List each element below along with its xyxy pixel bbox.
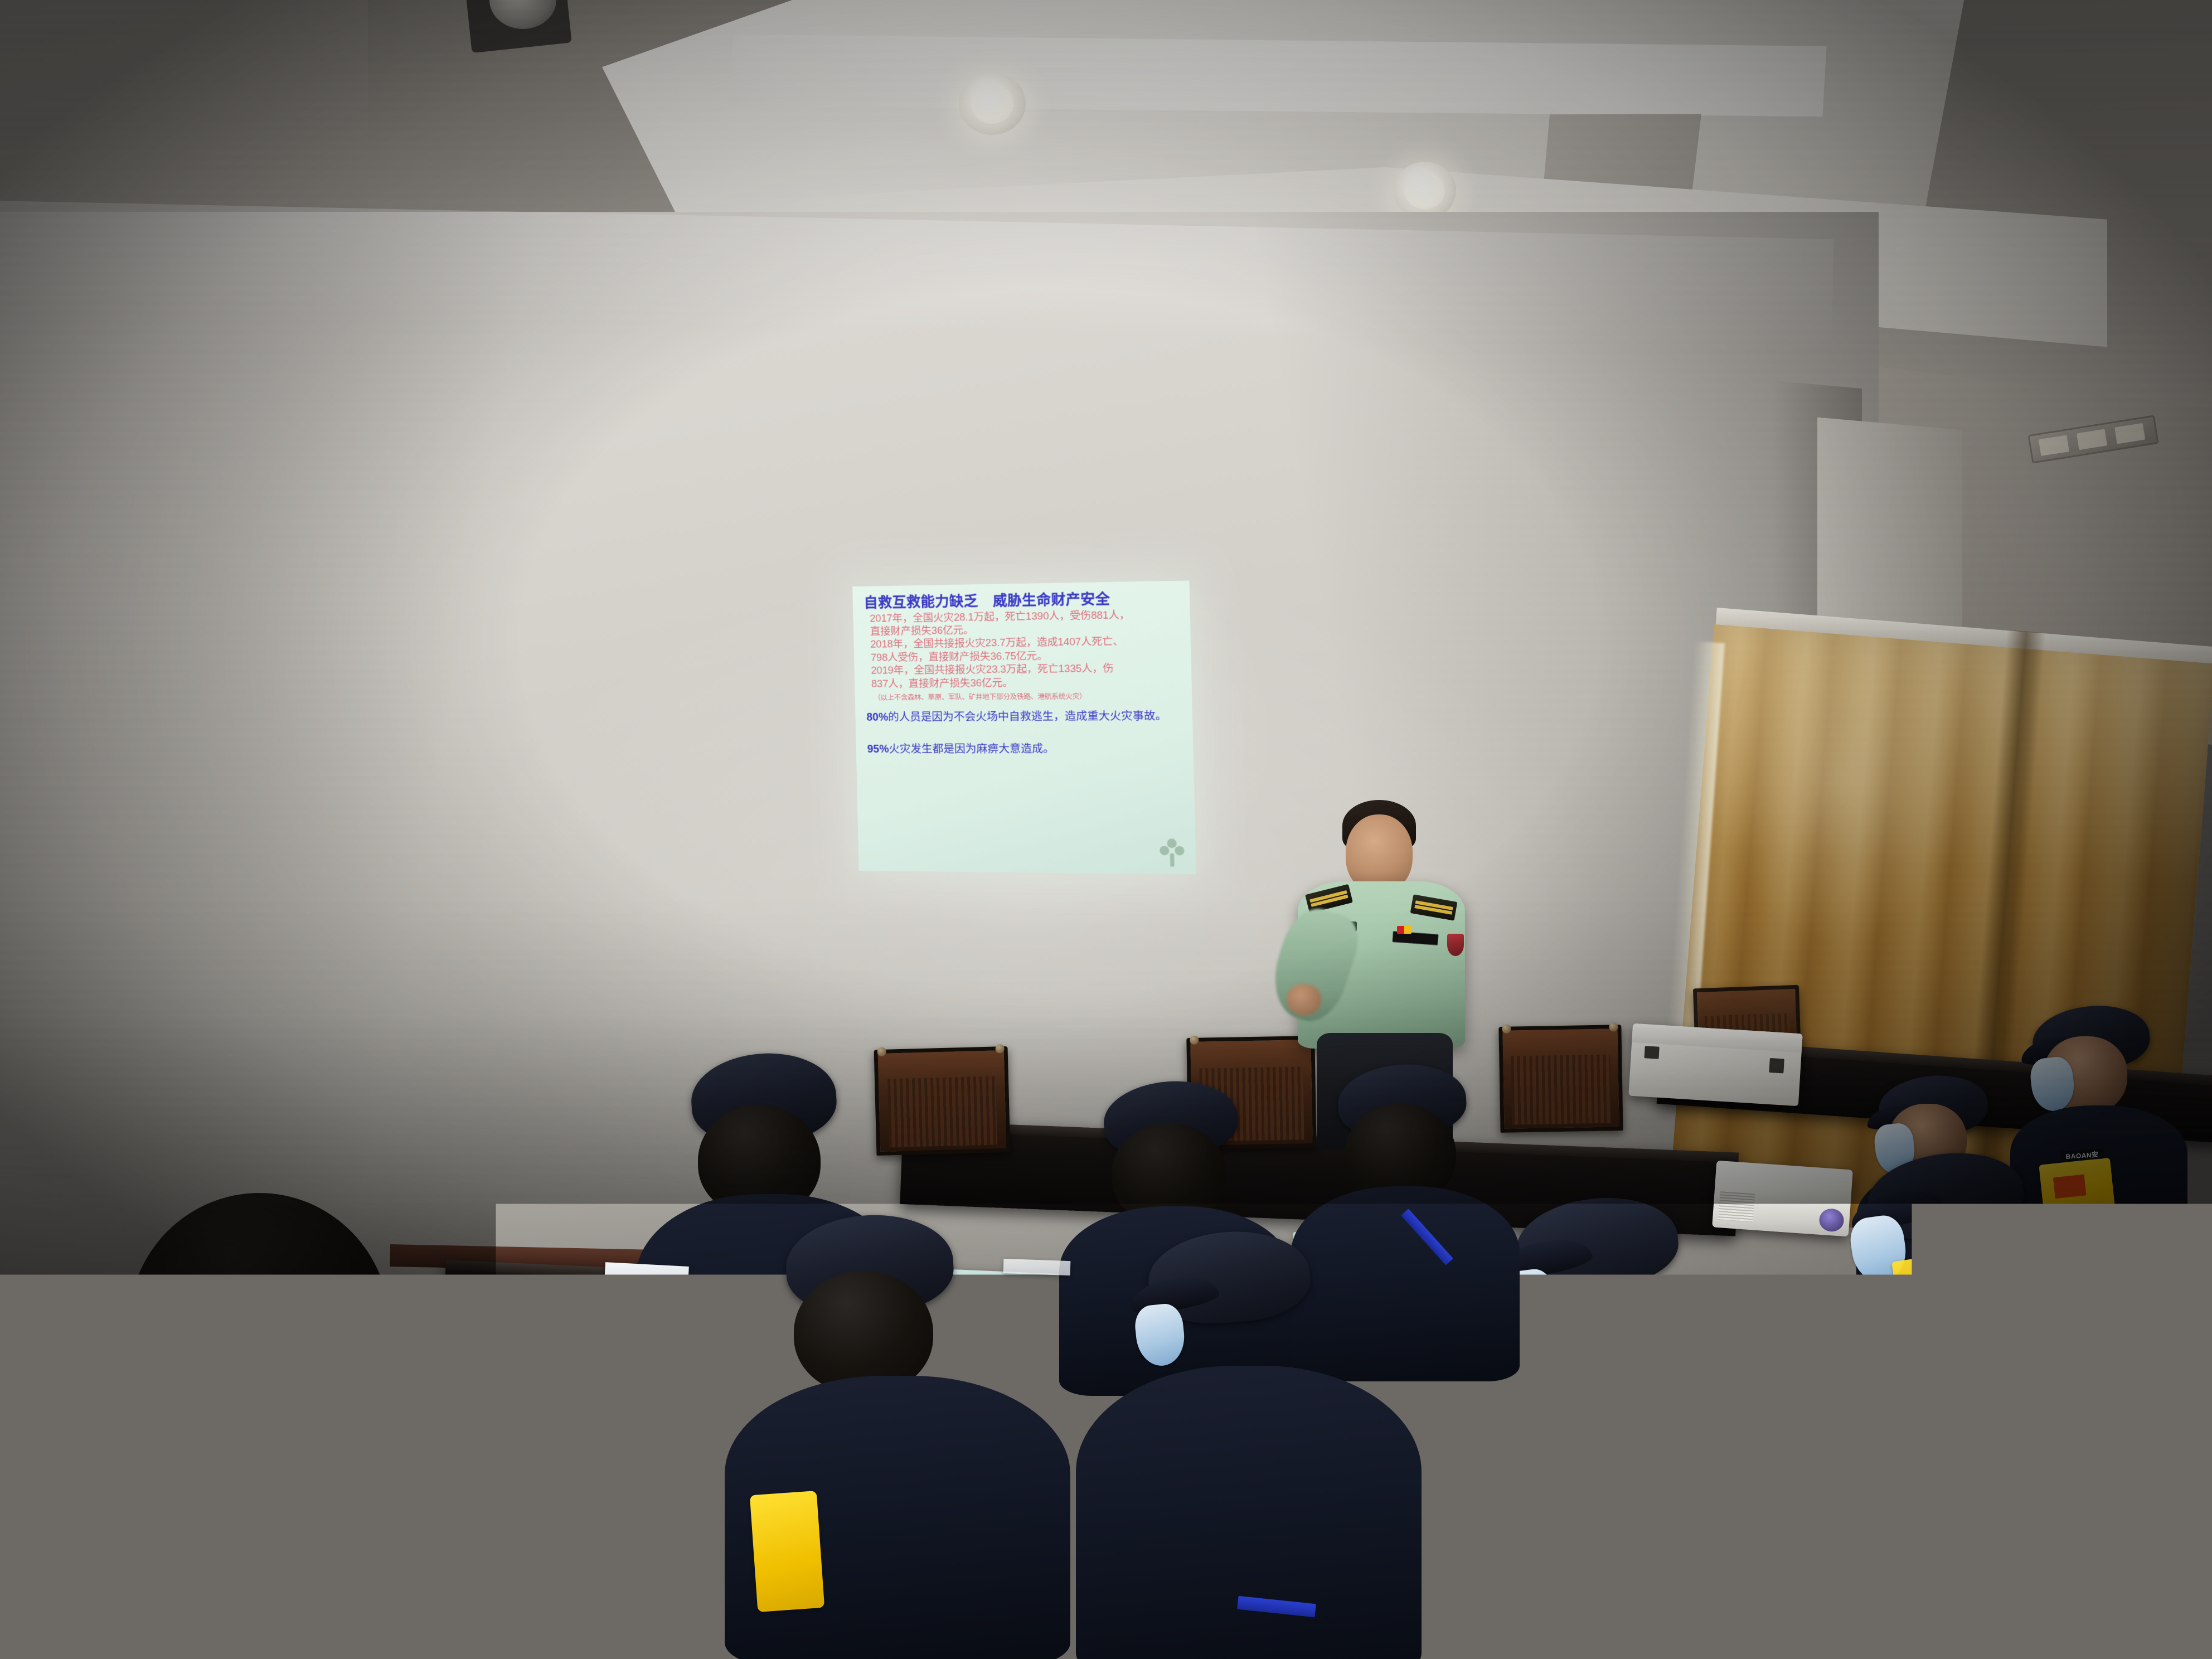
slide-footnote: （以上不含森林、草原、军队、矿井地下部分及铁路、港航系统火灾） [874,690,1182,702]
ceiling-downlight-1 [959,72,1026,135]
slide-highlight-2-percent: 95% [867,743,889,755]
slide-highlight-1: 80%的人员是因为不会火场中自救逃生，造成重大火灾事故。 [866,710,1183,724]
slide-stat-line: 798人受伤，直接财产损失36.75亿元。 [865,648,1182,663]
attendee-sweater [61,1483,485,1659]
slide-watermark-logo-icon [1158,837,1187,870]
bottle-label: 农夫山泉 [795,1524,844,1583]
bottle-brand-text: 农夫山泉 [795,1575,844,1580]
attendee-foreground [61,1193,485,1659]
projector-case[interactable] [1628,1023,1802,1106]
presenter-hand [1287,984,1321,1015]
slide-statistics: 2017年，全国火灾28.1万起，死亡1390人，受伤881人， 直接财产损失3… [864,608,1182,690]
slide-title-left: 自救互救能力缺乏 [864,593,978,610]
attendee-jacket [1076,1366,1422,1659]
slide-title-right: 威胁生命财产安全 [993,591,1110,609]
slide-highlight-2: 95%火灾发生都是因为麻痹大意造成。 [867,743,1183,756]
attendee-armband [1891,1249,1988,1322]
projected-slide: 自救互救能力缺乏威胁生命财产安全 2017年，全国火灾28.1万起，死亡1390… [852,581,1196,875]
slide-stat-line: 837人，直接财产损失36亿元。 [866,675,1182,690]
slide-highlight-1-text: 的人员是因为不会火场中自救逃生，造成重大火灾事故。 [888,710,1167,724]
bottle-mountain-icon [809,1526,829,1553]
presenter-head [1346,814,1413,892]
paper-notebook-2[interactable] [1003,1259,1071,1275]
water-bottle[interactable]: 农夫山泉 [792,1427,847,1600]
slide-highlight-1-percent: 80% [866,711,888,724]
attendee-face-mask [1133,1302,1187,1368]
attendee-front-center [1076,1232,1422,1659]
slide-stat-line: 2019年，全国共接报火灾23.3万起，死亡1335人，伤 [865,662,1182,677]
attendee-jacket [479,1438,792,1659]
bottle-cap [801,1427,838,1453]
presenter-flag-pin [1397,926,1411,934]
attendee-left-edge [479,1405,792,1659]
ceiling-downlight-2 [1394,162,1456,220]
attendee-head [794,1271,933,1394]
presenter-shoulder-patch [1447,934,1464,956]
slide-title: 自救互救能力缺乏威胁生命财产安全 [864,591,1181,610]
meeting-room-photo: 自救互救能力缺乏威胁生命财产安全 2017年，全国火灾28.1万起，死亡1390… [0,0,2212,1659]
slide-highlight-2-text: 火灾发生都是因为麻痹大意造成。 [889,743,1054,755]
